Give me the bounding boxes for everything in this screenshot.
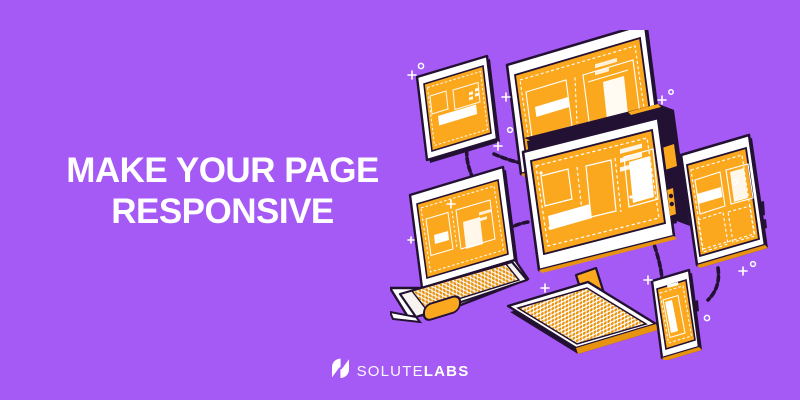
- solutelabs-s-mark-icon: [331, 358, 350, 384]
- plus-icon: [541, 284, 549, 292]
- plus-icon: [408, 237, 414, 243]
- plus-icon: [658, 96, 666, 104]
- circle-icon: [669, 90, 673, 94]
- plus-icon: [502, 93, 510, 101]
- circle-icon: [704, 315, 709, 320]
- circle-icon: [508, 128, 513, 133]
- brand-logo: SOLUTELABS: [0, 358, 800, 384]
- laptop-left: [390, 167, 532, 322]
- isometric-devices-svg: [390, 30, 790, 360]
- devices-illustration: [390, 30, 790, 360]
- circle-icon: [751, 262, 756, 267]
- plus-icon: [408, 71, 416, 79]
- page-title: MAKE YOUR PAGE RESPONSIVE: [30, 150, 415, 233]
- responsive-banner: MAKE YOUR PAGE RESPONSIVE: [0, 0, 800, 400]
- phone-landscape-top-left: [417, 56, 500, 163]
- phone-portrait-bottom-right: [652, 270, 702, 360]
- keyboard-bottom: [508, 282, 658, 354]
- headline-line-1: MAKE YOUR PAGE: [30, 150, 415, 191]
- plus-icon: [739, 267, 747, 275]
- chain-tabletright-phone: [708, 268, 719, 300]
- headline-line-2: RESPONSIVE: [30, 191, 415, 232]
- circle-icon: [418, 63, 423, 68]
- plus-icon: [644, 276, 652, 284]
- brand-word-solute: SOLUTE: [357, 363, 424, 380]
- tablet-portrait-right: [681, 135, 768, 268]
- brand-word-labs: LABS: [424, 363, 470, 380]
- brand-wordmark: SOLUTELABS: [357, 363, 470, 380]
